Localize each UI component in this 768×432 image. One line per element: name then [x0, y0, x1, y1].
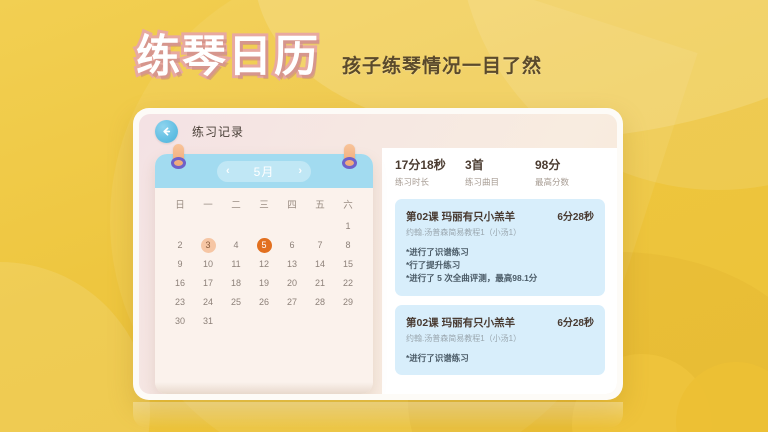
calendar-day-blank [250, 218, 278, 234]
calendar-grid: 日一二三四五六 12345678910111213141516171819202… [155, 188, 373, 382]
calendar-day-number: 22 [341, 276, 356, 291]
record-detail-line: *进行了识谱练习 [406, 352, 594, 365]
back-arrow-icon [160, 125, 173, 138]
calendar-day-number [313, 314, 328, 329]
calendar-day-number: 11 [229, 257, 244, 272]
back-button[interactable] [155, 120, 178, 143]
calendar-day-cell[interactable]: 26 [250, 294, 278, 310]
record-detail-line: *进行了 5 次全曲评测，最高98.1分 [406, 272, 594, 285]
calendar-day-cell[interactable]: 20 [278, 275, 306, 291]
calendar-day-number [173, 219, 188, 234]
calendar-day-cell[interactable]: 11 [222, 256, 250, 272]
calendar-day-cell[interactable]: 18 [222, 275, 250, 291]
calendar-week-row: 2345678 [166, 237, 362, 253]
calendar-day-number: 10 [201, 257, 216, 272]
calendar-day-number: 4 [229, 238, 244, 253]
record-title: 第02课 玛丽有只小羔羊 [406, 315, 515, 330]
calendar-day-blank [278, 218, 306, 234]
stat-item: 17分18秒练习时长 [395, 158, 465, 188]
calendar-day-number: 2 [173, 238, 188, 253]
stat-label: 练习曲目 [465, 176, 535, 188]
calendar-weekday: 一 [194, 197, 222, 211]
calendar-day-cell[interactable]: 6 [278, 237, 306, 253]
month-label: 5月 [254, 163, 275, 180]
calendar-day-cell[interactable]: 10 [194, 256, 222, 272]
calendar-day-number: 18 [229, 276, 244, 291]
calendar-day-number: 7 [313, 238, 328, 253]
calendar-day-number: 30 [173, 314, 188, 329]
calendar-footer-edge [155, 382, 373, 394]
calendar-day-number: 26 [257, 295, 272, 310]
calendar-day-blank [222, 218, 250, 234]
calendar-day-number: 15 [341, 257, 356, 272]
record-card[interactable]: 第02课 玛丽有只小羔羊6分28秒约翰.汤普森简易教程1（小汤1）*进行了识谱练… [395, 305, 605, 375]
calendar-day-cell[interactable]: 30 [166, 313, 194, 329]
calendar-day-blank [306, 218, 334, 234]
page-title: 练琴日历 [136, 35, 320, 79]
page-subtitle: 孩子练琴情况一目了然 [342, 51, 542, 78]
calendar-day-number: 6 [285, 238, 300, 253]
record-book: 约翰.汤普森简易教程1（小汤1） [406, 227, 594, 238]
calendar-day-number: 16 [173, 276, 188, 291]
calendar-day-blank [278, 313, 306, 329]
calendar-day-cell[interactable]: 25 [222, 294, 250, 310]
device-frame: 练习记录 ‹ 5月 › 日一二三四五六 [133, 108, 623, 400]
calendar-day-number: 19 [257, 276, 272, 291]
record-book: 约翰.汤普森简易教程1（小汤1） [406, 333, 594, 344]
stat-value: 17分18秒 [395, 158, 465, 173]
calendar-day-number: 24 [201, 295, 216, 310]
poster-title-row: 练琴日历 孩子练琴情况一目了然 [0, 22, 768, 92]
record-detail-line: *进行了识谱练习 [406, 246, 594, 259]
calendar-day-number: 3 [201, 238, 216, 253]
calendar-weekday: 四 [278, 197, 306, 211]
calendar-weekday: 五 [306, 197, 334, 211]
record-detail-lines: *进行了识谱练习 [406, 352, 594, 365]
calendar-day-number: 9 [173, 257, 188, 272]
calendar-day-cell[interactable]: 27 [278, 294, 306, 310]
stats-row: 17分18秒练习时长3首练习曲目98分最高分数 [395, 158, 605, 188]
stat-value: 3首 [465, 158, 535, 173]
app-header: 练习记录 [139, 114, 617, 148]
calendar-day-cell[interactable]: 9 [166, 256, 194, 272]
record-card-header: 第02课 玛丽有只小羔羊6分28秒 [406, 208, 594, 224]
calendar-day-number: 29 [341, 295, 356, 310]
record-duration: 6分28秒 [557, 314, 594, 329]
calendar-week-row: 16171819202122 [166, 275, 362, 291]
calendar-day-cell[interactable]: 12 [250, 256, 278, 272]
calendar-day-number: 28 [313, 295, 328, 310]
calendar-day-number [201, 219, 216, 234]
record-duration: 6分28秒 [557, 208, 594, 223]
records-list: 第02课 玛丽有只小羔羊6分28秒约翰.汤普森简易教程1（小汤1）*进行了识谱练… [395, 199, 605, 375]
calendar-weekday: 三 [250, 197, 278, 211]
binder-clip-left-icon [173, 144, 184, 166]
calendar-day-cell[interactable]: 17 [194, 275, 222, 291]
calendar-day-cell[interactable]: 8 [334, 237, 362, 253]
calendar-day-cell[interactable]: 22 [334, 275, 362, 291]
calendar-day-blank [334, 313, 362, 329]
calendar-day-number [313, 219, 328, 234]
calendar: ‹ 5月 › 日一二三四五六 1234567891011121314151617… [155, 154, 373, 394]
calendar-day-blank [194, 218, 222, 234]
calendar-day-cell[interactable]: 31 [194, 313, 222, 329]
calendar-day-cell[interactable]: 7 [306, 237, 334, 253]
calendar-panel: ‹ 5月 › 日一二三四五六 1234567891011121314151617… [155, 148, 373, 394]
calendar-day-number: 8 [341, 238, 356, 253]
stat-label: 最高分数 [535, 176, 605, 188]
calendar-header: ‹ 5月 › [155, 154, 373, 188]
app-screen: 练习记录 ‹ 5月 › 日一二三四五六 [139, 114, 617, 394]
calendar-day-cell[interactable]: 1 [334, 218, 362, 234]
records-panel: 17分18秒练习时长3首练习曲目98分最高分数 第02课 玛丽有只小羔羊6分28… [382, 148, 617, 394]
calendar-day-number: 14 [313, 257, 328, 272]
calendar-day-cell[interactable]: 19 [250, 275, 278, 291]
record-title: 第02课 玛丽有只小羔羊 [406, 209, 515, 224]
calendar-weekday: 二 [222, 197, 250, 211]
next-month-icon[interactable]: › [298, 166, 302, 177]
calendar-day-number: 27 [285, 295, 300, 310]
calendar-day-number: 25 [229, 295, 244, 310]
calendar-day-cell[interactable]: 29 [334, 294, 362, 310]
stat-item: 98分最高分数 [535, 158, 605, 188]
calendar-week-row: 1 [166, 218, 362, 234]
calendar-day-number [229, 314, 244, 329]
calendar-week-row: 23242526272829 [166, 294, 362, 310]
binder-clip-right-icon [344, 144, 355, 166]
calendar-day-cell[interactable]: 14 [306, 256, 334, 272]
calendar-day-cell[interactable]: 24 [194, 294, 222, 310]
calendar-week-row: 9101112131415 [166, 256, 362, 272]
calendar-day-number [285, 314, 300, 329]
calendar-day-cell[interactable]: 4 [222, 237, 250, 253]
calendar-day-number: 20 [285, 276, 300, 291]
prev-month-icon[interactable]: ‹ [226, 166, 230, 177]
calendar-day-number: 12 [257, 257, 272, 272]
calendar-day-cell[interactable]: 3 [194, 237, 222, 253]
calendar-day-number [285, 219, 300, 234]
calendar-day-number: 23 [173, 295, 188, 310]
calendar-day-cell[interactable]: 13 [278, 256, 306, 272]
calendar-day-number: 13 [285, 257, 300, 272]
calendar-day-cell[interactable]: 21 [306, 275, 334, 291]
stat-item: 3首练习曲目 [465, 158, 535, 188]
calendar-week-row: 3031 [166, 313, 362, 329]
month-selector[interactable]: ‹ 5月 › [217, 161, 311, 182]
app-body: ‹ 5月 › 日一二三四五六 1234567891011121314151617… [139, 148, 617, 394]
record-detail-line: *行了提升练习 [406, 259, 594, 272]
app-header-title: 练习记录 [192, 123, 244, 140]
record-card-header: 第02课 玛丽有只小羔羊6分28秒 [406, 314, 594, 330]
stat-label: 练习时长 [395, 176, 465, 188]
calendar-day-cell[interactable]: 28 [306, 294, 334, 310]
calendar-day-number [341, 314, 356, 329]
calendar-day-rows: 1234567891011121314151617181920212223242… [166, 218, 362, 332]
calendar-day-number: 5 [257, 238, 272, 253]
calendar-weekday: 日 [166, 197, 194, 211]
calendar-day-number: 17 [201, 276, 216, 291]
calendar-weekday-row: 日一二三四五六 [166, 197, 362, 211]
calendar-day-number [257, 219, 272, 234]
calendar-weekday: 六 [334, 197, 362, 211]
calendar-day-number: 1 [341, 219, 356, 234]
calendar-day-number [229, 219, 244, 234]
calendar-day-cell[interactable]: 23 [166, 294, 194, 310]
calendar-day-number [257, 314, 272, 329]
record-card[interactable]: 第02课 玛丽有只小羔羊6分28秒约翰.汤普森简易教程1（小汤1）*进行了识谱练… [395, 199, 605, 296]
calendar-day-cell[interactable]: 15 [334, 256, 362, 272]
calendar-day-blank [306, 313, 334, 329]
calendar-day-blank [250, 313, 278, 329]
calendar-day-blank [166, 218, 194, 234]
calendar-day-number: 31 [201, 314, 216, 329]
record-detail-lines: *进行了识谱练习*行了提升练习*进行了 5 次全曲评测，最高98.1分 [406, 246, 594, 286]
stat-value: 98分 [535, 158, 605, 173]
calendar-day-blank [222, 313, 250, 329]
calendar-day-cell[interactable]: 5 [250, 237, 278, 253]
calendar-day-number: 21 [313, 276, 328, 291]
calendar-day-cell[interactable]: 16 [166, 275, 194, 291]
calendar-day-cell[interactable]: 2 [166, 237, 194, 253]
